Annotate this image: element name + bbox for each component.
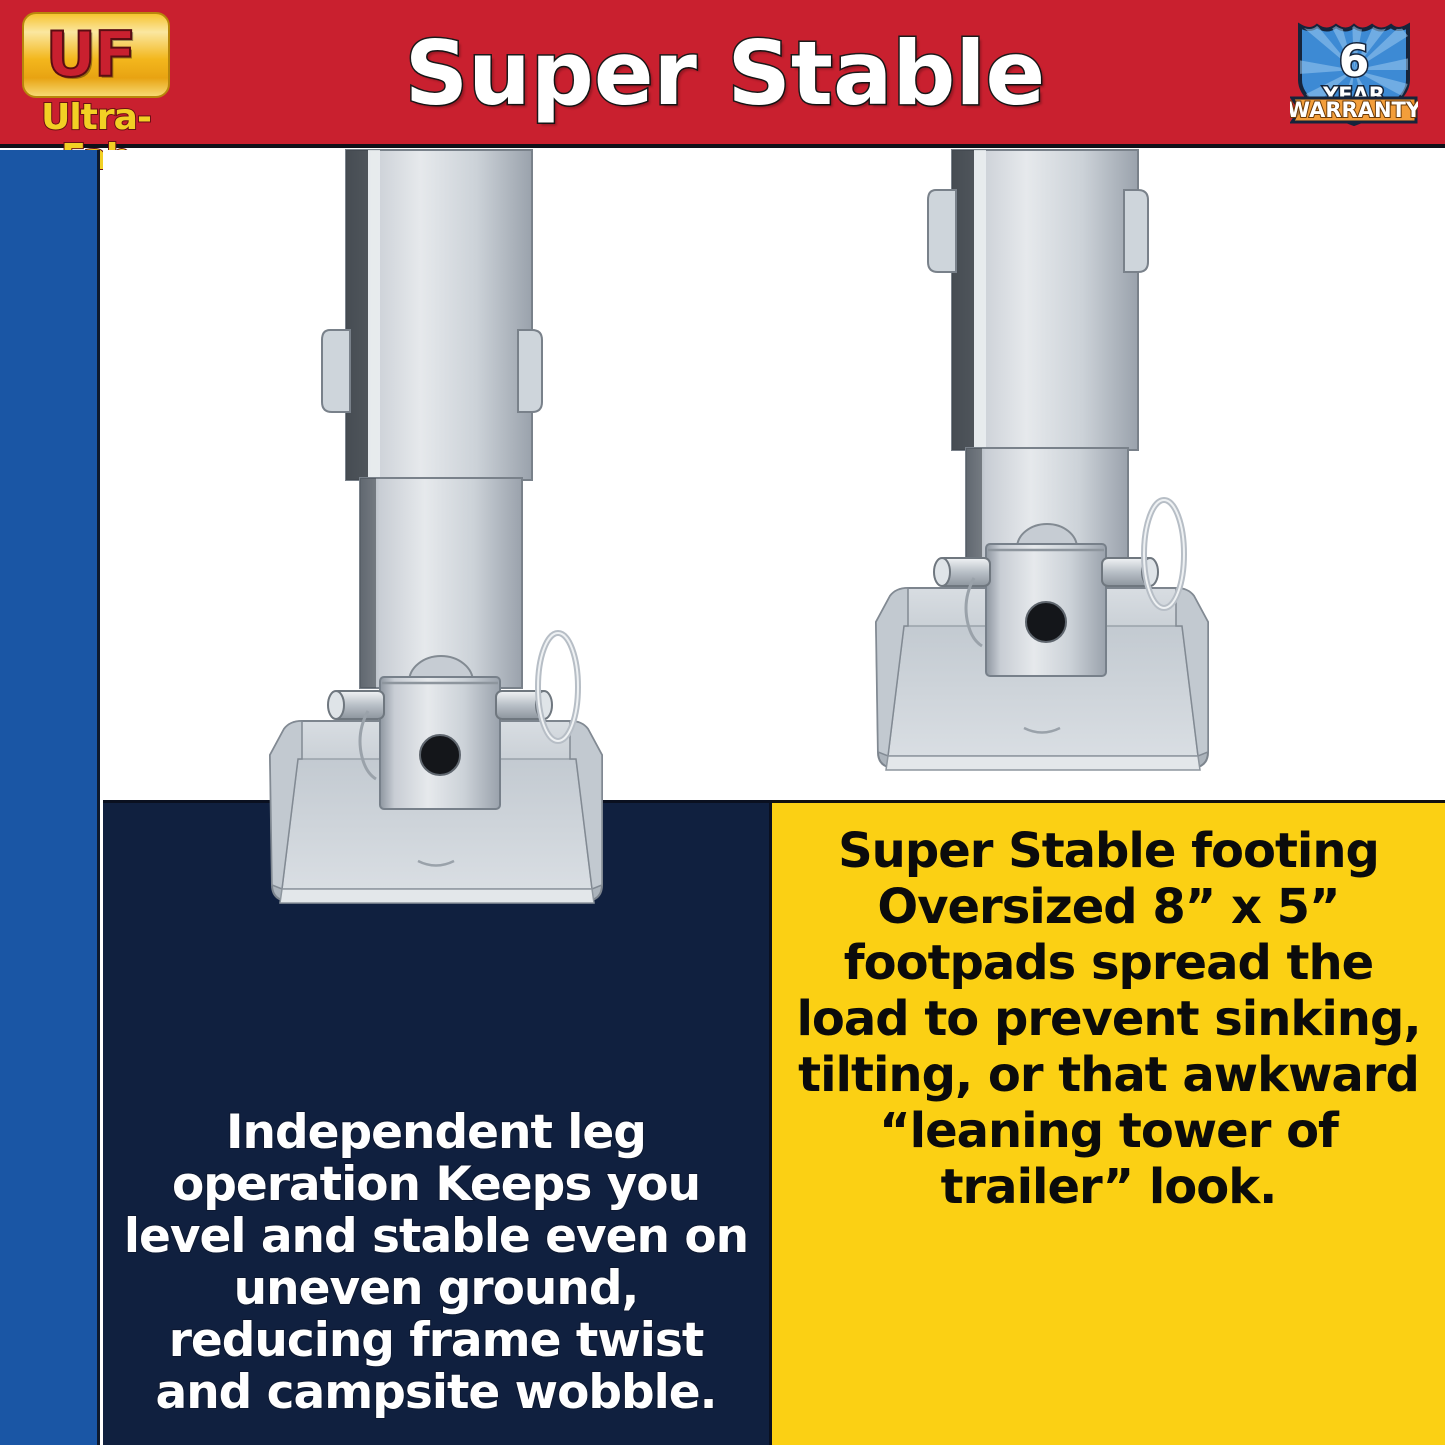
logo-monogram: UF bbox=[16, 12, 164, 98]
warranty-ribbon-label: WARRANTY bbox=[1290, 98, 1418, 122]
page-title: Super Stable bbox=[200, 14, 1250, 134]
warranty-badge: 6 YEAR WARRANTY bbox=[1290, 18, 1418, 130]
feature-panel-right-text: Super Stable footing Oversized 8” x 5” f… bbox=[772, 823, 1445, 1215]
header-bar: UF Ultra-Fab Super Stable bbox=[0, 0, 1445, 148]
feature-panel-left: Independent leg operation Keeps you leve… bbox=[103, 800, 772, 1445]
product-photo bbox=[103, 150, 1445, 805]
shield-icon: 6 YEAR WARRANTY bbox=[1290, 18, 1418, 130]
ultra-fab-logo: UF Ultra-Fab bbox=[16, 12, 176, 136]
product-infographic: UF Ultra-Fab Super Stable bbox=[0, 0, 1445, 1445]
feature-panel-left-text: Independent leg operation Keeps you leve… bbox=[103, 1107, 769, 1419]
feature-panel-right: Super Stable footing Oversized 8” x 5” f… bbox=[772, 800, 1445, 1445]
warranty-years-number: 6 bbox=[1339, 36, 1370, 87]
accent-stripe bbox=[0, 150, 100, 1445]
